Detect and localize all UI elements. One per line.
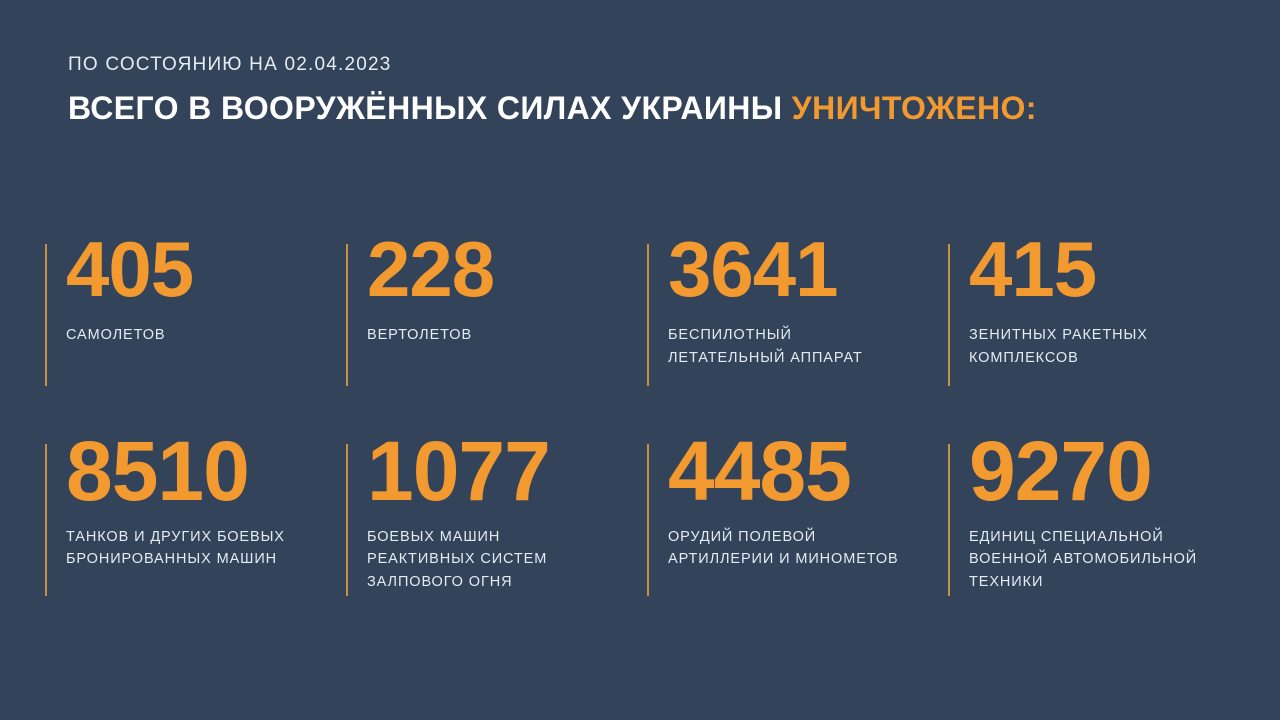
stat-card-helicopters: 228 ВЕРТОЛЕТОВ [341, 232, 642, 432]
divider-bar [45, 444, 47, 596]
stat-value: 1077 [367, 432, 642, 512]
stat-label: БЕСПИЛОТНЫЙ ЛЕТАТЕЛЬНЫЙ АППАРАТ [668, 324, 943, 369]
stat-value: 415 [969, 232, 1244, 306]
page-title: ВСЕГО В ВООРУЖЁННЫХ СИЛАХ УКРАИНЫ УНИЧТО… [68, 90, 1037, 127]
report-date-line: ПО СОСТОЯНИЮ НА 02.04.2023 [68, 54, 1037, 77]
stats-row-1: 405 САМОЛЕТОВ 228 ВЕРТОЛЕТОВ 3641 БЕСПИЛ… [40, 232, 1245, 432]
stat-value: 4485 [668, 432, 943, 512]
divider-bar [647, 444, 649, 596]
stat-value: 3641 [668, 232, 943, 306]
stats-grid: 405 САМОЛЕТОВ 228 ВЕРТОЛЕТОВ 3641 БЕСПИЛ… [40, 232, 1245, 617]
stat-value: 8510 [66, 432, 341, 512]
stat-label: ЕДИНИЦ СПЕЦИАЛЬНОЙ ВОЕННОЙ АВТОМОБИЛЬНОЙ… [969, 526, 1244, 593]
divider-bar [45, 244, 47, 386]
infographic-poster: ПО СОСТОЯНИЮ НА 02.04.2023 ВСЕГО В ВООРУ… [0, 0, 1280, 720]
stat-value: 228 [367, 232, 642, 306]
stat-card-air-defense: 415 ЗЕНИТНЫХ РАКЕТНЫХ КОМПЛЕКСОВ [943, 232, 1244, 432]
stat-card-artillery: 4485 ОРУДИЙ ПОЛЕВОЙ АРТИЛЛЕРИИ И МИНОМЕТ… [642, 432, 943, 617]
divider-bar [948, 444, 950, 596]
header: ПО СОСТОЯНИЮ НА 02.04.2023 ВСЕГО В ВООРУ… [68, 54, 1037, 127]
stat-label: ТАНКОВ И ДРУГИХ БОЕВЫХ БРОНИРОВАННЫХ МАШ… [66, 526, 341, 571]
stat-value: 405 [66, 232, 341, 306]
stats-row-2: 8510 ТАНКОВ И ДРУГИХ БОЕВЫХ БРОНИРОВАННЫ… [40, 432, 1245, 617]
stat-label: ОРУДИЙ ПОЛЕВОЙ АРТИЛЛЕРИИ И МИНОМЕТОВ [668, 526, 943, 571]
stat-label: ВЕРТОЛЕТОВ [367, 324, 642, 346]
headline-accent-text: УНИЧТОЖЕНО: [792, 90, 1037, 126]
stat-card-uav: 3641 БЕСПИЛОТНЫЙ ЛЕТАТЕЛЬНЫЙ АППАРАТ [642, 232, 943, 432]
divider-bar [346, 444, 348, 596]
stat-card-aircraft: 405 САМОЛЕТОВ [40, 232, 341, 432]
stat-label: ЗЕНИТНЫХ РАКЕТНЫХ КОМПЛЕКСОВ [969, 324, 1244, 369]
stat-value: 9270 [969, 432, 1244, 512]
stat-card-military-vehicles: 9270 ЕДИНИЦ СПЕЦИАЛЬНОЙ ВОЕННОЙ АВТОМОБИ… [943, 432, 1244, 617]
divider-bar [346, 244, 348, 386]
stat-card-tanks: 8510 ТАНКОВ И ДРУГИХ БОЕВЫХ БРОНИРОВАННЫ… [40, 432, 341, 617]
stat-label: САМОЛЕТОВ [66, 324, 341, 346]
divider-bar [647, 244, 649, 386]
stat-label: БОЕВЫХ МАШИН РЕАКТИВНЫХ СИСТЕМ ЗАЛПОВОГО… [367, 526, 642, 593]
stat-card-mlrs: 1077 БОЕВЫХ МАШИН РЕАКТИВНЫХ СИСТЕМ ЗАЛП… [341, 432, 642, 617]
divider-bar [948, 244, 950, 386]
headline-main-text: ВСЕГО В ВООРУЖЁННЫХ СИЛАХ УКРАИНЫ [68, 90, 783, 126]
